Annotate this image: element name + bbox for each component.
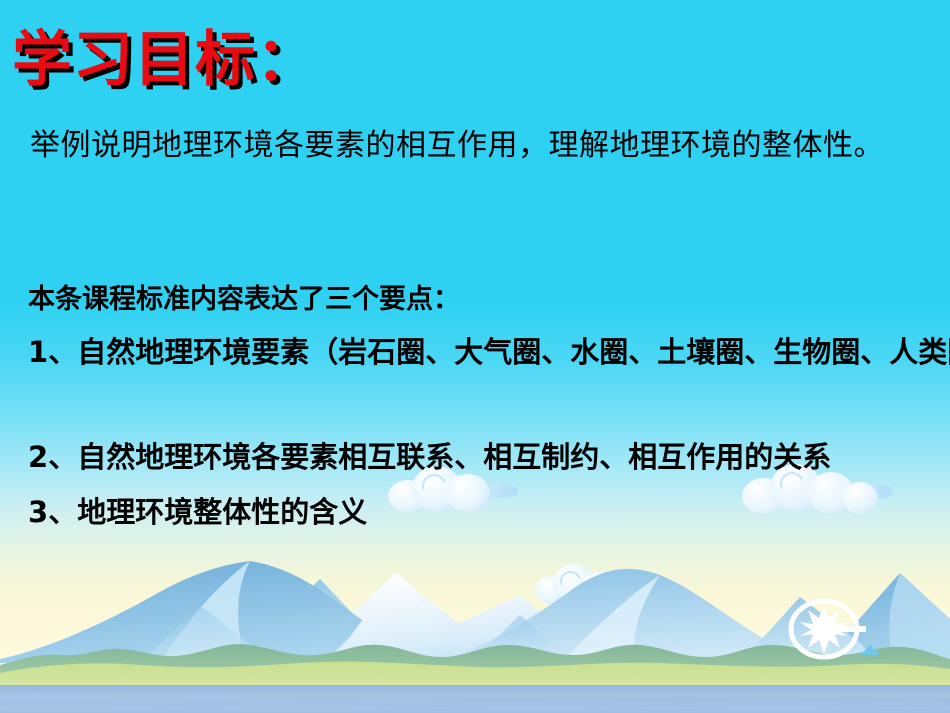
- list-item: 2、自然地理环境各要素相互联系、相互制约、相互作用的关系: [28, 437, 831, 479]
- point-text: 地理环境整体性的含义: [77, 497, 367, 529]
- objective-paragraph: 举例说明地理环境各要素的相互作用，理解地理环境的整体性。: [30, 126, 910, 166]
- point-number: 2: [28, 440, 48, 474]
- page-title: 学习目标：: [12, 29, 317, 92]
- point-separator: 、: [48, 337, 77, 369]
- star-circle-logo: [786, 598, 866, 660]
- slide-canvas: 学习目标： 举例说明地理环境各要素的相互作用，理解地理环境的整体性。 本条课程标…: [0, 0, 950, 713]
- point-text: 自然地理环境要素（岩石圈、大气圈、水圈、土壤圈、生物圈、人类圈）: [77, 337, 950, 369]
- point-number: 3: [28, 495, 48, 529]
- list-item: 3、地理环境整体性的含义: [28, 492, 367, 534]
- point-separator: 、: [48, 442, 77, 474]
- lead-in-text: 本条课程标准内容表达了三个要点：: [28, 277, 460, 316]
- point-number: 1: [28, 335, 48, 369]
- point-text: 自然地理环境各要素相互联系、相互制约、相互作用的关系: [77, 442, 831, 474]
- point-separator: 、: [48, 497, 77, 529]
- list-item: 1、自然地理环境要素（岩石圈、大气圈、水圈、土壤圈、生物圈、人类圈）: [28, 332, 950, 374]
